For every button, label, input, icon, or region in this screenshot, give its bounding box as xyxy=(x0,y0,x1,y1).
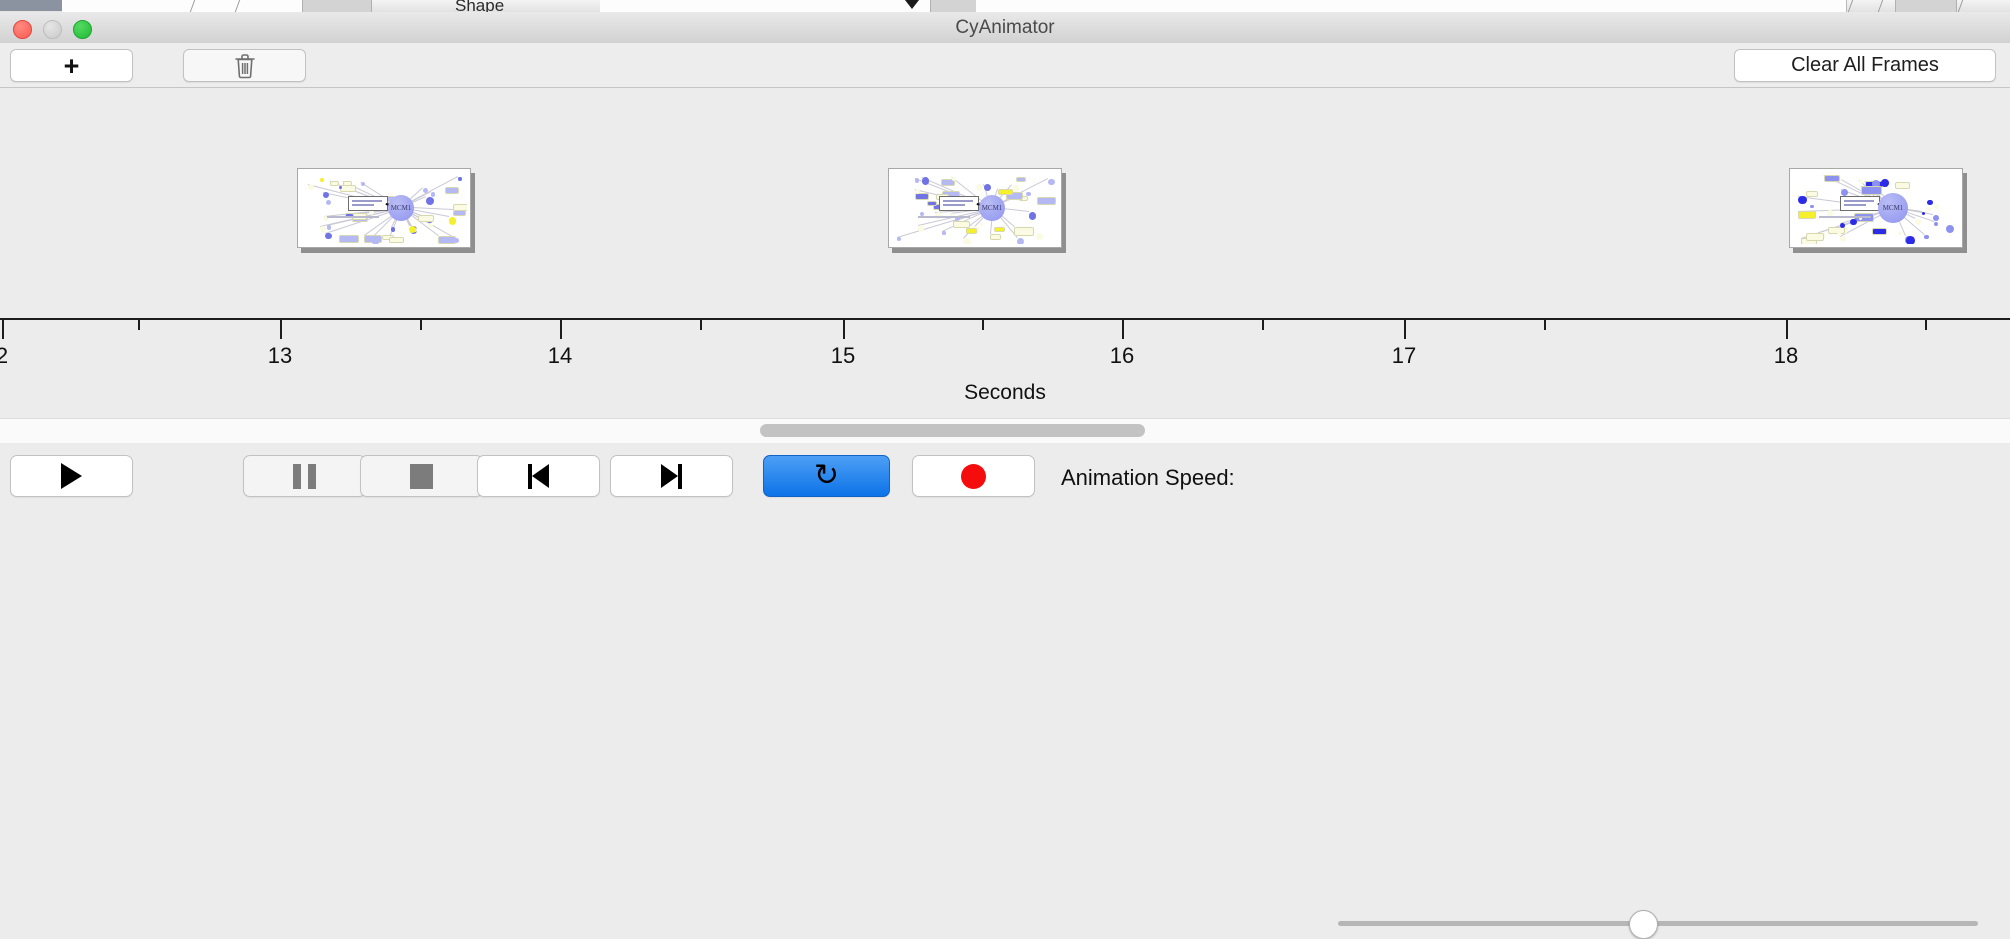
graph-node xyxy=(1824,175,1840,182)
graph-node xyxy=(1850,219,1857,226)
trash-icon xyxy=(234,53,256,79)
axis-tick xyxy=(1925,320,1927,330)
skip-forward-icon xyxy=(661,464,682,489)
playback-control-bar: ↻ Animation Speed: xyxy=(0,443,2010,510)
graph-node xyxy=(915,193,929,199)
graph-node xyxy=(1016,177,1026,182)
stop-icon xyxy=(410,464,433,489)
axis-tick-label: 13 xyxy=(268,343,292,369)
graph-node xyxy=(1017,238,1024,244)
animation-speed-slider[interactable] xyxy=(1338,921,1978,926)
skip-to-start-button[interactable] xyxy=(477,455,600,497)
graph-node xyxy=(953,221,970,228)
axis-tick xyxy=(1544,320,1546,330)
axis-tick-label: 15 xyxy=(831,343,855,369)
graph-node xyxy=(372,237,380,244)
graph-node xyxy=(918,225,925,232)
record-button[interactable] xyxy=(912,455,1035,497)
skip-back-icon xyxy=(528,464,549,489)
graph-node xyxy=(1934,204,1939,209)
background-titlebar-fragment xyxy=(0,0,62,11)
graph-node xyxy=(1927,200,1932,205)
axis-tick xyxy=(280,320,282,339)
graph-node xyxy=(966,228,978,234)
axis-tick-label: 2 xyxy=(0,343,8,369)
background-window-label: Shape xyxy=(455,0,504,12)
graph-node xyxy=(922,177,929,184)
axis-tick xyxy=(1404,320,1406,339)
graph-node xyxy=(1012,185,1019,192)
graph-node xyxy=(976,184,983,191)
graph-node xyxy=(340,185,356,192)
keyframe-thumbnail[interactable]: MCM1 xyxy=(297,168,471,248)
network-graph-preview: MCM1 xyxy=(301,172,467,244)
graph-node xyxy=(1798,211,1815,219)
loop-icon: ↻ xyxy=(814,461,839,491)
keyframe-thumbnail[interactable]: MCM1 xyxy=(1789,168,1963,248)
graph-node xyxy=(963,238,970,244)
animation-speed-label: Animation Speed: xyxy=(1061,465,1235,491)
title-bar: CyAnimator xyxy=(0,12,2010,44)
graph-node xyxy=(1895,182,1910,189)
graph-node xyxy=(1872,228,1887,235)
graph-node xyxy=(1922,212,1925,215)
graph-tooltip-callout xyxy=(348,196,388,211)
axis-tick-label: 14 xyxy=(548,343,572,369)
graph-node xyxy=(897,237,901,241)
network-graph-preview: MCM1 xyxy=(892,172,1058,244)
graph-node xyxy=(320,178,324,182)
axis-tick xyxy=(1122,320,1124,339)
graph-node xyxy=(1926,207,1931,212)
graph-hub-node: MCM1 xyxy=(1878,193,1908,223)
graph-node xyxy=(998,189,1012,196)
axis-tick xyxy=(1786,320,1788,339)
keyframe-thumbnail[interactable]: MCM1 xyxy=(888,168,1062,248)
add-frame-button[interactable]: + xyxy=(10,49,133,82)
stop-button[interactable] xyxy=(360,455,483,497)
graph-node xyxy=(308,184,314,190)
graph-caption xyxy=(918,216,970,218)
axis-tick xyxy=(138,320,140,330)
clear-all-frames-button[interactable]: Clear All Frames xyxy=(1734,49,1996,82)
graph-node xyxy=(327,225,332,230)
graph-node xyxy=(927,201,937,206)
graph-node xyxy=(454,238,459,243)
graph-node xyxy=(1029,212,1037,220)
graph-node xyxy=(1881,179,1889,187)
graph-node xyxy=(330,181,339,186)
graph-node xyxy=(1934,222,1939,227)
graph-node xyxy=(431,192,435,196)
graph-caption xyxy=(1819,216,1871,218)
axis-tick-label: 18 xyxy=(1774,343,1798,369)
graph-node xyxy=(391,227,395,231)
toolbar: + Clear All Frames xyxy=(0,43,2010,88)
graph-node xyxy=(980,223,983,226)
graph-node xyxy=(1915,219,1921,225)
graph-node xyxy=(1946,225,1955,234)
graph-node xyxy=(1898,231,1902,235)
graph-node xyxy=(1026,192,1030,196)
graph-node xyxy=(1827,210,1832,215)
graph-node xyxy=(426,197,434,205)
graph-node xyxy=(1048,179,1054,185)
graph-node xyxy=(990,234,1001,239)
graph-node xyxy=(1037,197,1055,205)
background-window-strip: Shape xyxy=(0,0,2010,12)
graph-node xyxy=(320,226,325,231)
timeline-panel[interactable]: 2131415161718 MCM1MCM1MCM1 Seconds xyxy=(0,88,2010,418)
graph-node xyxy=(418,215,433,222)
graph-node xyxy=(1840,236,1846,242)
graph-node xyxy=(994,227,1005,232)
graph-node xyxy=(445,187,460,194)
graph-node xyxy=(1806,191,1818,197)
graph-node xyxy=(453,210,466,216)
graph-node xyxy=(1861,186,1882,195)
animation-speed-slider-thumb[interactable] xyxy=(1629,910,1658,939)
background-marker-icon xyxy=(905,0,919,9)
graph-hub-node: MCM1 xyxy=(388,195,414,221)
graph-node xyxy=(915,178,920,183)
graph-node xyxy=(1837,232,1841,236)
graph-node xyxy=(389,237,404,244)
pause-button[interactable] xyxy=(243,455,366,497)
graph-node xyxy=(325,233,331,239)
graph-node xyxy=(1036,233,1043,240)
axis-tick xyxy=(700,320,702,330)
graph-node xyxy=(1806,233,1825,241)
axis-tick xyxy=(2,320,4,339)
network-graph-preview: MCM1 xyxy=(1793,172,1959,244)
graph-tooltip-callout xyxy=(939,196,979,211)
graph-node xyxy=(323,192,329,198)
graph-node xyxy=(1933,215,1939,221)
axis-tick xyxy=(843,320,845,339)
graph-node xyxy=(361,182,365,186)
graph-node xyxy=(326,200,331,205)
pause-icon xyxy=(293,464,316,489)
graph-node xyxy=(458,177,461,180)
graph-node xyxy=(942,231,945,234)
axis-tick xyxy=(560,320,562,339)
graph-caption xyxy=(327,216,379,218)
delete-frame-button[interactable] xyxy=(183,49,306,82)
graph-node xyxy=(1810,205,1814,209)
graph-hub-node: MCM1 xyxy=(979,195,1005,221)
graph-node xyxy=(339,235,358,243)
axis-tick-label: 17 xyxy=(1392,343,1416,369)
graph-node xyxy=(428,223,433,228)
graph-node xyxy=(1798,196,1807,205)
cyanimator-window: Shape CyAnimator + Clear All Frame xyxy=(0,0,2010,510)
timeline-axis xyxy=(0,318,2010,320)
graph-node xyxy=(984,184,991,191)
axis-tick xyxy=(420,320,422,330)
play-icon xyxy=(61,463,82,489)
timeline-scrollbar[interactable] xyxy=(0,418,2010,444)
graph-node xyxy=(1014,227,1033,235)
graph-node xyxy=(1924,235,1928,239)
graph-tooltip-callout xyxy=(1840,196,1880,211)
scrollbar-thumb[interactable] xyxy=(760,424,1145,437)
graph-node xyxy=(449,217,457,225)
window-title: CyAnimator xyxy=(0,12,2010,43)
loop-button[interactable]: ↻ xyxy=(763,455,890,497)
play-button[interactable] xyxy=(10,455,133,497)
axis-tick xyxy=(1262,320,1264,330)
axis-title: Seconds xyxy=(0,381,2010,405)
record-icon xyxy=(961,464,986,489)
axis-tick xyxy=(982,320,984,330)
axis-tick-label: 16 xyxy=(1110,343,1134,369)
skip-to-end-button[interactable] xyxy=(610,455,733,497)
graph-node xyxy=(1906,236,1915,244)
